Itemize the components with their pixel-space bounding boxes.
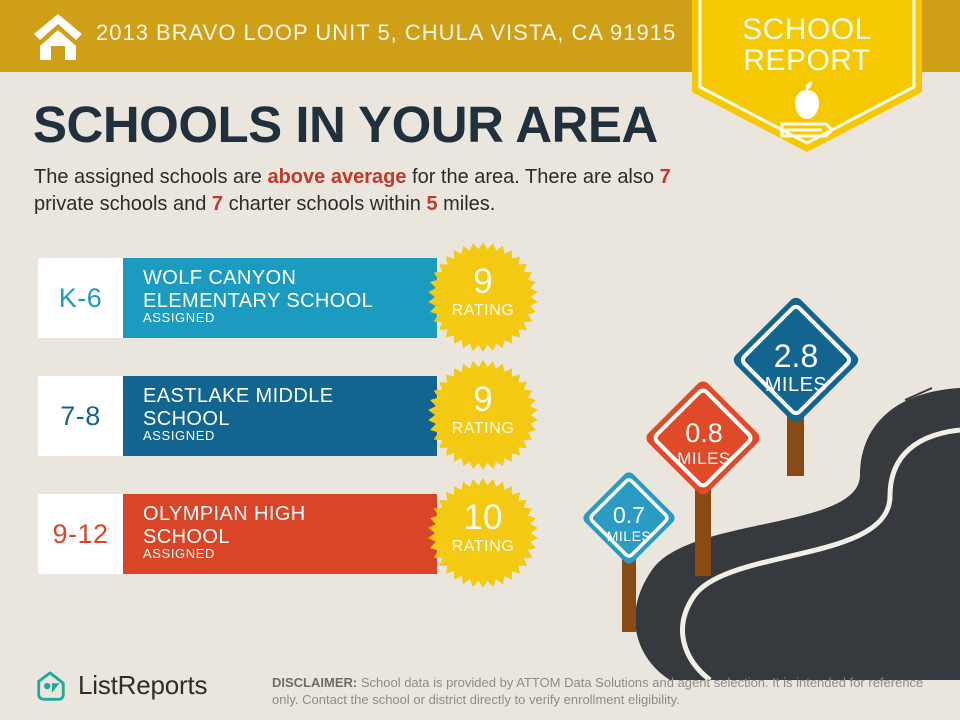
listreports-logo-text: ListReports xyxy=(78,670,207,701)
rating-value: 10 xyxy=(428,500,538,535)
school-bar: WOLF CANYON ELEMENTARY SCHOOL ASSIGNED xyxy=(123,258,437,338)
rating-starburst: 9 RATING xyxy=(428,360,538,470)
school-name-line-1: WOLF CANYON xyxy=(143,267,429,290)
rating-value: 9 xyxy=(428,382,538,417)
disclaimer-label: DISCLAIMER: xyxy=(272,675,357,690)
school-bar: EASTLAKE MIDDLE SCHOOL ASSIGNED xyxy=(123,376,437,456)
summary-part-5: miles. xyxy=(438,193,496,215)
road-illustration: 2.8 MILES 0.8 MILES xyxy=(560,280,960,680)
disclaimer-text: DISCLAIMER: School data is provided by A… xyxy=(272,674,932,708)
school-status: ASSIGNED xyxy=(143,310,215,325)
school-name: EASTLAKE MIDDLE SCHOOL xyxy=(143,385,429,431)
home-icon xyxy=(32,12,84,62)
summary-highlight-above-average: above average xyxy=(267,166,406,188)
page-title: SCHOOLS IN YOUR AREA xyxy=(33,97,658,153)
summary-highlight-charter-count: 7 xyxy=(212,193,223,215)
disclaimer-body: School data is provided by ATTOM Data So… xyxy=(272,675,923,707)
school-name: OLYMPIAN HIGH SCHOOL xyxy=(143,503,429,549)
distance-sign-unit: MILES xyxy=(578,528,680,544)
school-name: WOLF CANYON ELEMENTARY SCHOOL xyxy=(143,267,429,313)
rating-starburst: 10 RATING xyxy=(428,478,538,588)
school-status: ASSIGNED xyxy=(143,428,215,443)
distance-sign-value: 0.8 xyxy=(642,418,766,449)
summary-part-3: private schools and xyxy=(34,193,212,215)
summary-text: The assigned schools are above average f… xyxy=(34,164,674,218)
grade-range-label: K-6 xyxy=(59,283,103,314)
distance-sign: 0.7 MILES xyxy=(578,466,680,632)
listreports-house-tag-icon xyxy=(34,670,68,704)
grade-range-box: 9-12 xyxy=(38,494,123,574)
rating-caption: RATING xyxy=(428,302,538,320)
school-name-line-1: EASTLAKE MIDDLE xyxy=(143,385,429,408)
rating-caption: RATING xyxy=(428,420,538,438)
summary-part-2: for the area. There are also xyxy=(406,166,659,188)
grade-range-label: 7-8 xyxy=(60,401,101,432)
property-address: 2013 BRAVO LOOP UNIT 5, CHULA VISTA, CA … xyxy=(96,20,676,46)
summary-part-4: charter schools within xyxy=(223,193,426,215)
badge-line-2: REPORT xyxy=(692,45,922,76)
school-status: ASSIGNED xyxy=(143,546,215,561)
badge-line-1: SCHOOL xyxy=(692,14,922,45)
summary-highlight-private-count: 7 xyxy=(660,166,671,188)
infographic-canvas: 2013 BRAVO LOOP UNIT 5, CHULA VISTA, CA … xyxy=(0,0,960,720)
grade-range-label: 9-12 xyxy=(52,519,108,550)
listreports-logo[interactable]: ListReports xyxy=(34,668,224,706)
school-bar: OLYMPIAN HIGH SCHOOL ASSIGNED xyxy=(123,494,437,574)
distance-sign-value: 2.8 xyxy=(728,338,864,375)
rating-starburst: 9 RATING xyxy=(428,242,538,352)
school-name-line-1: OLYMPIAN HIGH xyxy=(143,503,429,526)
summary-highlight-radius: 5 xyxy=(426,193,437,215)
school-report-badge: SCHOOL REPORT xyxy=(692,0,922,152)
rating-value: 9 xyxy=(428,264,538,299)
badge-label: SCHOOL REPORT xyxy=(692,14,922,76)
rating-caption: RATING xyxy=(428,538,538,556)
distance-sign-shape xyxy=(578,466,680,632)
grade-range-box: K-6 xyxy=(38,258,123,338)
summary-part-1: The assigned schools are xyxy=(34,166,267,188)
grade-range-box: 7-8 xyxy=(38,376,123,456)
distance-sign-value: 0.7 xyxy=(578,502,680,529)
